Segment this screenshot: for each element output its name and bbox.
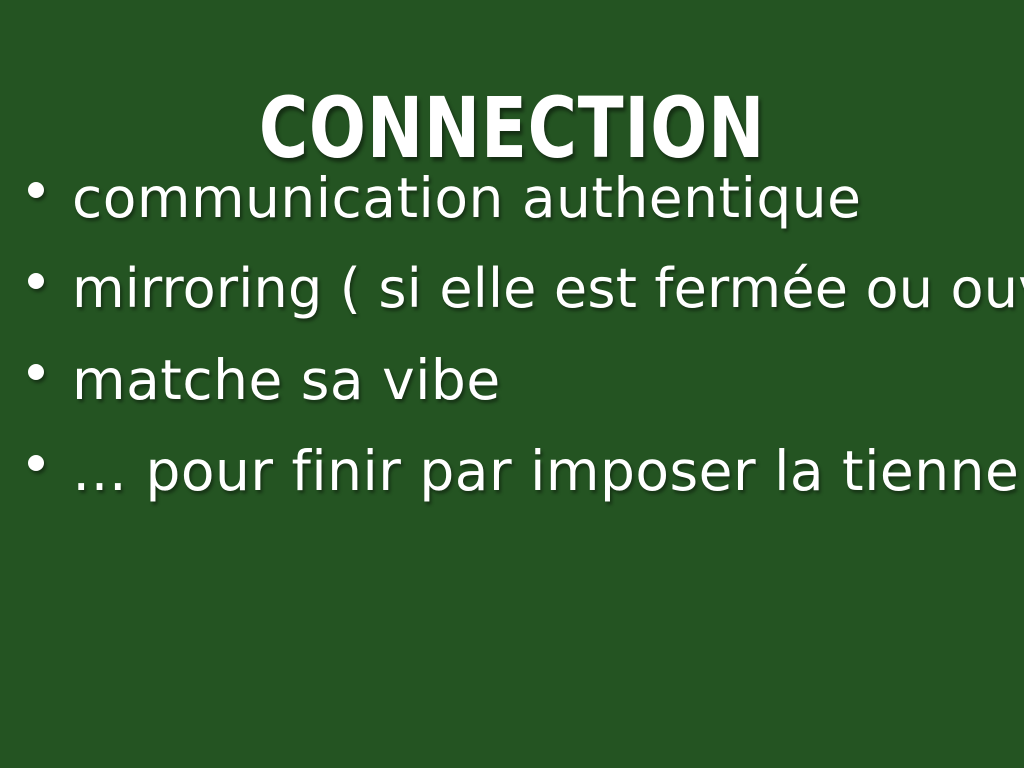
bullet-list: communication authentique mirroring ( si… <box>0 152 1024 516</box>
list-item: matche sa vibe <box>0 334 1024 425</box>
list-item-label: … pour finir par imposer la tienne <box>72 440 1019 502</box>
list-item: mirroring ( si elle est fermée ou ouvert… <box>0 243 1024 334</box>
bullet-dot-icon <box>28 455 44 471</box>
bullet-dot-icon <box>28 364 44 380</box>
list-item: communication authentique <box>0 152 1024 243</box>
bullet-dot-icon <box>28 182 44 198</box>
list-item-label: communication authentique <box>72 167 861 229</box>
list-item-label: matche sa vibe <box>72 349 501 411</box>
presentation-slide: CONNECTION communication authentique mir… <box>0 0 1024 768</box>
list-item: … pour finir par imposer la tienne <box>0 425 1024 516</box>
list-item-label: mirroring ( si elle est fermée ou ouvert… <box>72 258 1024 320</box>
bullet-dot-icon <box>28 273 44 289</box>
